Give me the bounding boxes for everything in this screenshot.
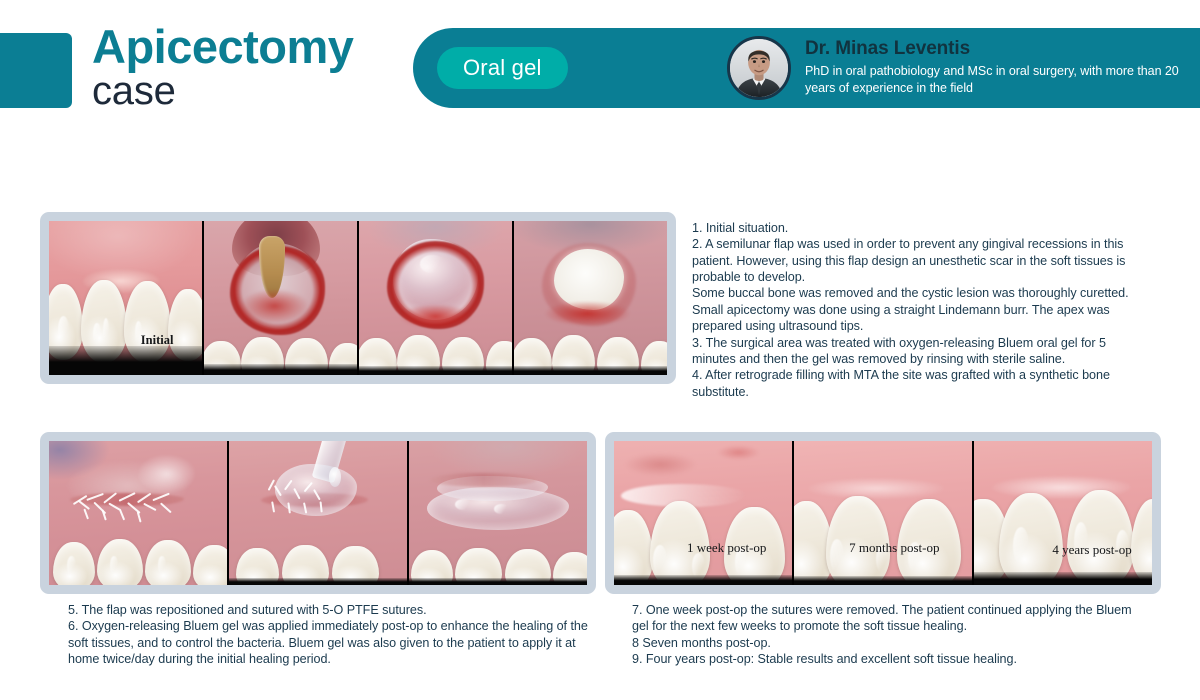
photo-label-1-week: 1 week post-op [687, 540, 766, 556]
doctor-name: Dr. Minas Leventis [805, 37, 1200, 61]
photo-4-years-postop: 4 years post-op [974, 441, 1152, 585]
photo-7-months-postop: 7 months post-op [794, 441, 974, 585]
caption-line: Some buccal bone was removed and the cys… [692, 285, 1132, 334]
oral-gel-badge-label: Oral gel [463, 55, 542, 81]
header-teal-banner: Oral gel [413, 28, 1200, 108]
doctor-description: PhD in oral pathobiology and MSc in oral… [805, 63, 1200, 98]
postop-followup-strip: 1 week post-op 7 months post-op [605, 432, 1161, 594]
photo-gel-application [229, 441, 409, 585]
caption-postop-followup: 7. One week post-op the sutures were rem… [632, 602, 1132, 667]
photo-label-7-months: 7 months post-op [849, 540, 939, 556]
case-study-page: Apicectomy case Oral gel [0, 0, 1200, 700]
caption-surgical-sequence: 1. Initial situation. 2. A semilunar fla… [692, 220, 1132, 400]
caption-line: 4. After retrograde filling with MTA the… [692, 367, 1132, 400]
photo-gel-in-place [409, 441, 587, 585]
caption-line: 1. Initial situation. [692, 220, 1132, 236]
caption-suture-and-gel: 5. The flap was repositioned and sutured… [68, 602, 588, 667]
photo-bone-graft [514, 221, 667, 375]
title-sub: case [92, 69, 353, 113]
photo-strip [49, 441, 587, 585]
photo-label-4-years: 4 years post-op [1052, 542, 1131, 558]
caption-line: 9. Four years post-op: Stable results an… [632, 651, 1132, 667]
caption-line: 8 Seven months post-op. [632, 635, 1132, 651]
photo-flap-raised [204, 221, 359, 375]
photo-1-week-postop: 1 week post-op [614, 441, 794, 585]
title-main: Apicectomy [92, 22, 353, 71]
doctor-profile: Dr. Minas Leventis PhD in oral pathobiol… [727, 34, 1200, 100]
caption-line: 2. A semilunar flap was used in order to… [692, 236, 1132, 285]
caption-line: 5. The flap was repositioned and sutured… [68, 602, 588, 618]
photo-initial-situation: Initial [49, 221, 204, 375]
avatar [727, 36, 791, 100]
photo-label-initial: Initial [141, 333, 174, 348]
caption-line: 7. One week post-op the sutures were rem… [632, 602, 1132, 635]
oral-gel-badge: Oral gel [437, 47, 568, 89]
page-header: Apicectomy case Oral gel [0, 0, 1200, 130]
caption-line: 6. Oxygen-releasing Bluem gel was applie… [68, 618, 588, 667]
photo-cystic-lesion [359, 221, 514, 375]
photo-strip: 1 week post-op 7 months post-op [614, 441, 1152, 585]
page-title: Apicectomy case [92, 22, 353, 113]
photo-strip: Initial [49, 221, 667, 375]
surgical-sequence-strip: Initial [40, 212, 676, 384]
photo-sutured-flap [49, 441, 229, 585]
doctor-text: Dr. Minas Leventis PhD in oral pathobiol… [805, 34, 1200, 97]
caption-line: 3. The surgical area was treated with ox… [692, 335, 1132, 368]
suture-and-gel-strip [40, 432, 596, 594]
header-accent-square [0, 33, 72, 108]
